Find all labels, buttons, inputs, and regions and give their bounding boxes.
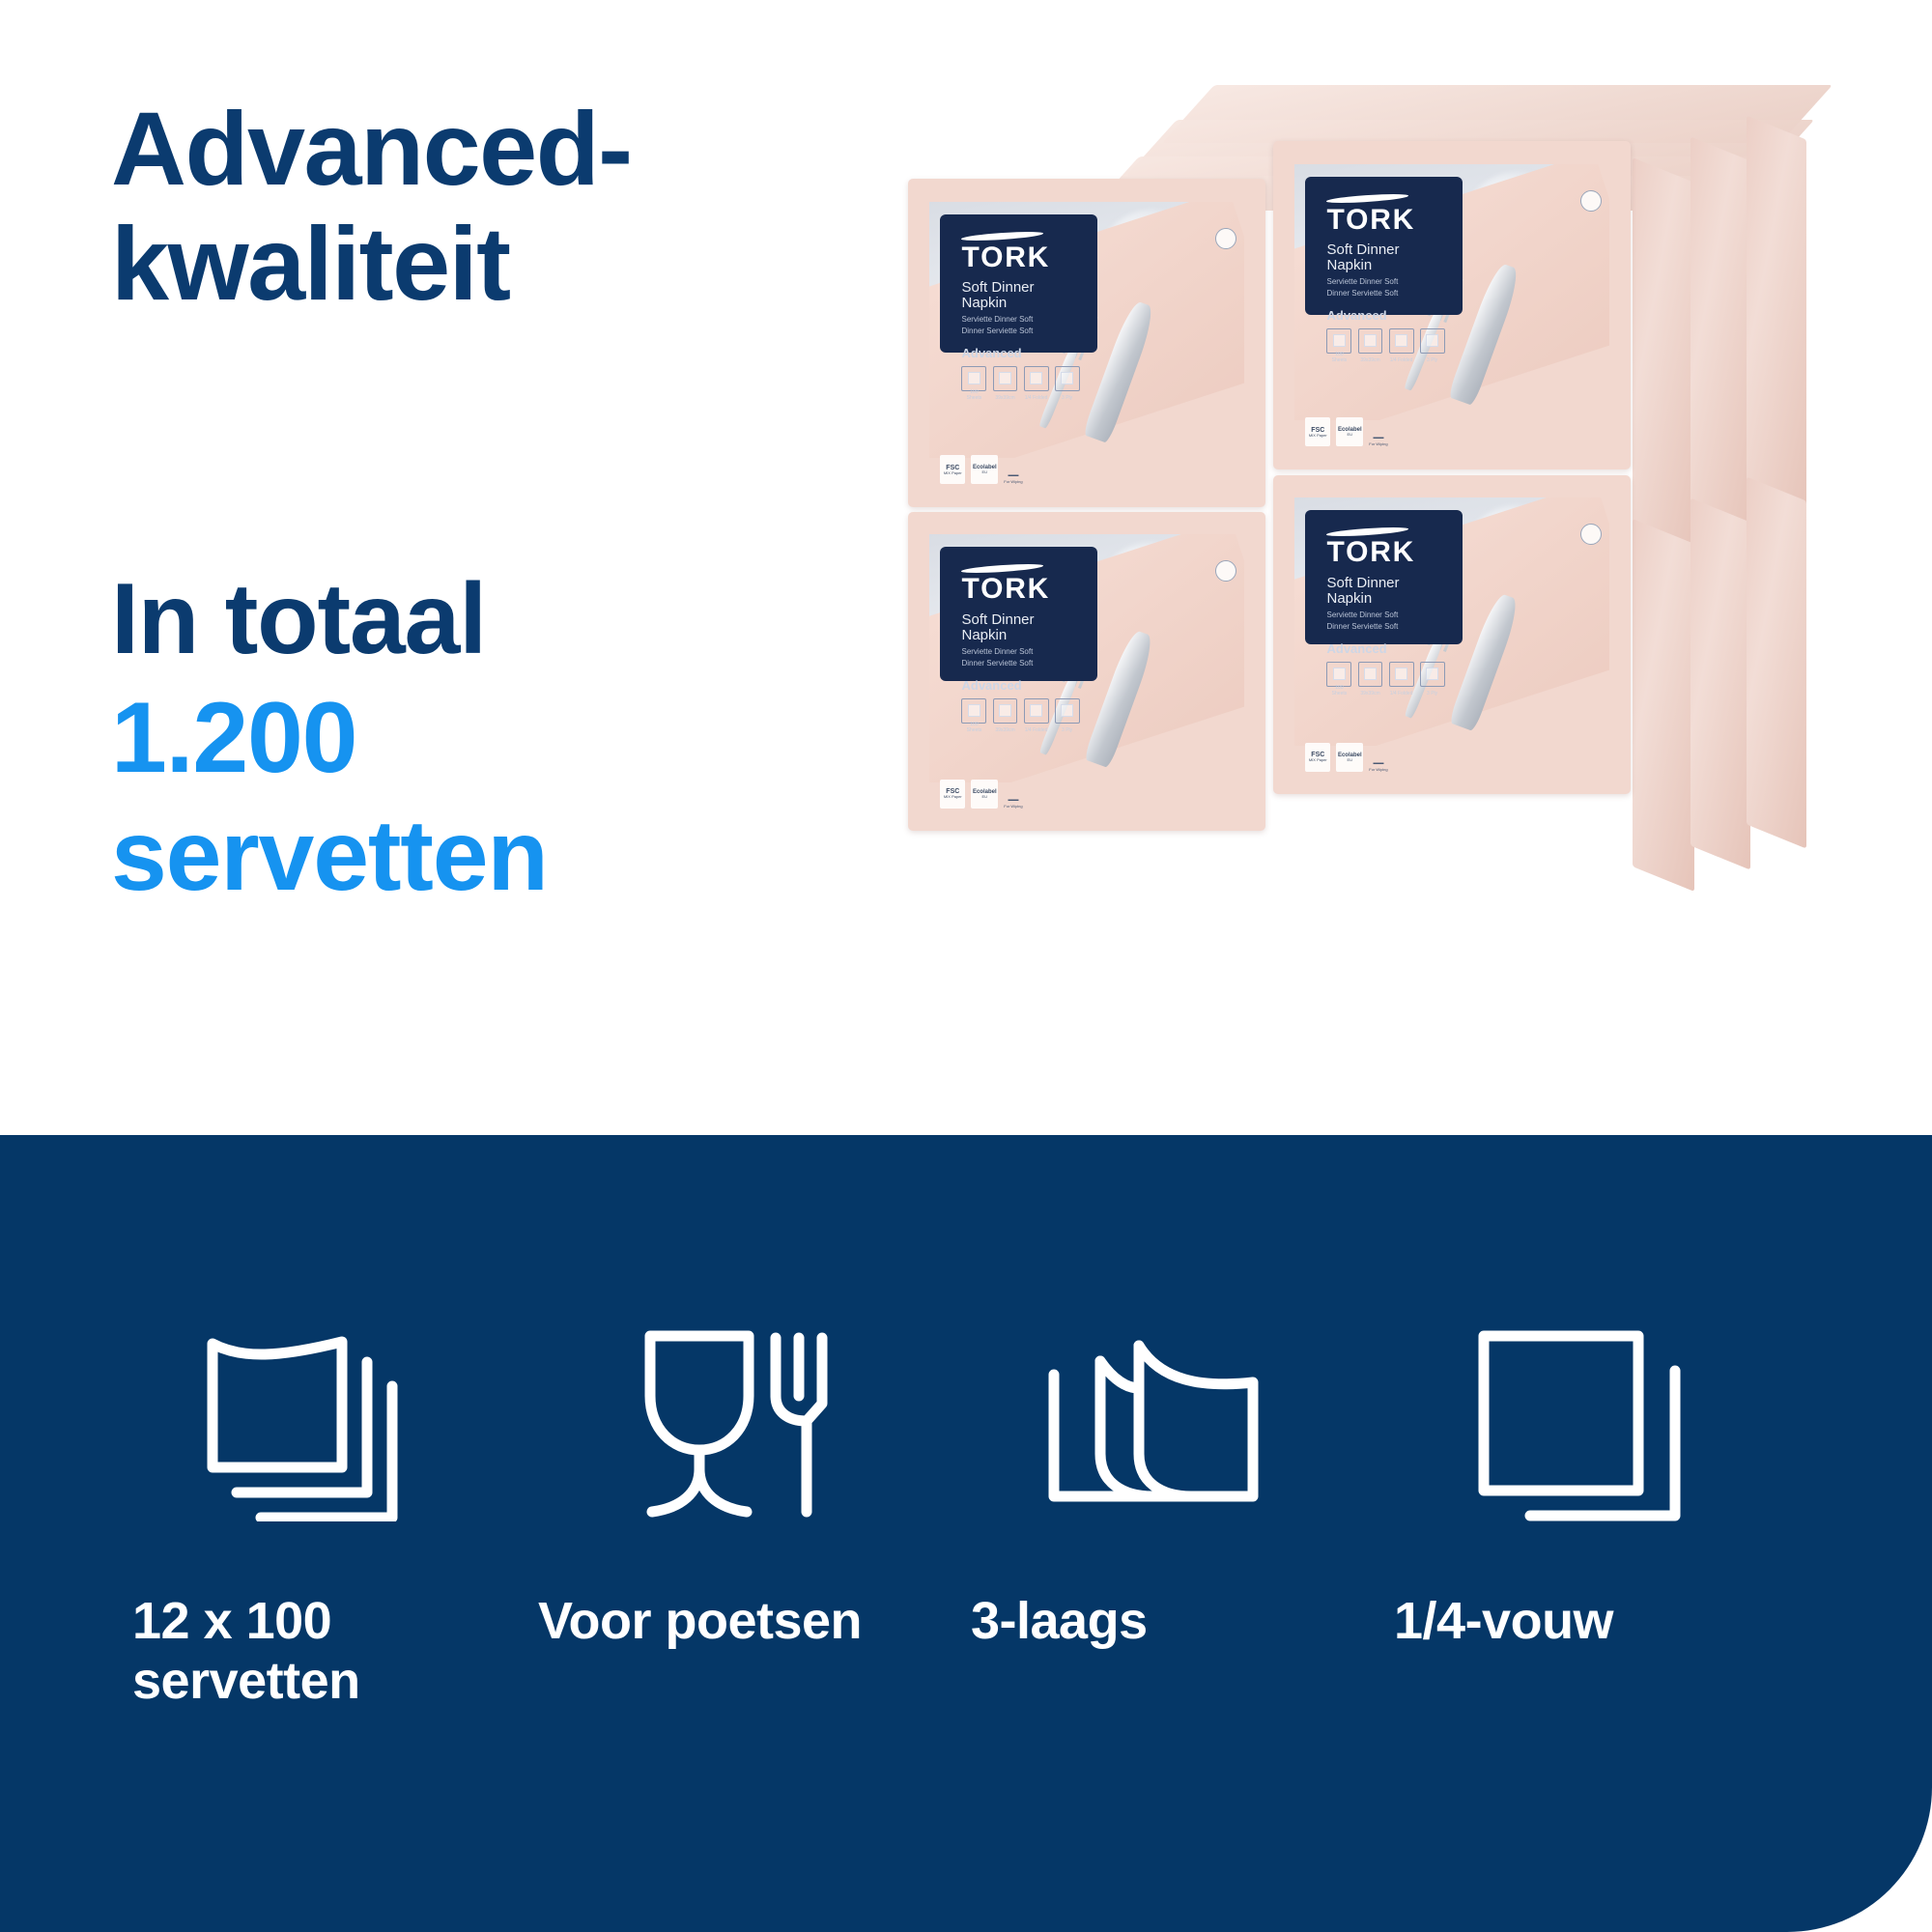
- subheadline-line-1: In totaal: [111, 560, 903, 679]
- size-icon: 39x39cm: [993, 698, 1018, 724]
- product-image: TORK Soft Dinner Napkin Serviette Dinner…: [898, 77, 1874, 1053]
- subheadline-count: 1.200: [111, 679, 903, 798]
- product-sub-1: Serviette Dinner Soft: [961, 646, 1079, 658]
- fsc-logo: FSC MIX Paper: [940, 455, 965, 484]
- sheets-icon: 100 Sheets: [1326, 662, 1351, 687]
- feature-list: 12 x 100servetten Voor poetsen: [92, 1304, 1840, 1711]
- eu-ecolabel-logo: Ecolabel EU: [1336, 417, 1363, 446]
- size-icon: 39x39cm: [1358, 328, 1383, 354]
- quality-tier: Advanced: [961, 346, 1079, 360]
- eu-ecolabel-logo: Ecolabel EU: [971, 455, 998, 484]
- eu-ecolabel-logo: Ecolabel EU: [971, 780, 998, 809]
- spec-icon-row: 100 Sheets 39x39cm 1/4 Folded 3 Ply: [961, 366, 1079, 391]
- eu-ecolabel-logo: Ecolabel EU: [1336, 743, 1363, 772]
- napkin-pack: TORK Soft Dinner Napkin Serviette Dinner…: [1273, 475, 1631, 794]
- feature-label: 1/4-vouw: [1367, 1592, 1792, 1652]
- feature-item: 1/4-vouw: [1367, 1304, 1792, 1711]
- product-infographic: Advanced- kwaliteit In totaal 1.200 serv…: [0, 0, 1932, 1932]
- feature-item: 12 x 100servetten: [92, 1304, 517, 1711]
- product-sub-2: Dinner Serviette Soft: [1326, 621, 1444, 633]
- feature-panel: 12 x 100servetten Voor poetsen: [0, 1135, 1932, 1932]
- product-title: Soft Dinner Napkin: [961, 280, 1079, 311]
- pack-label: TORK Soft Dinner Napkin Serviette Dinner…: [940, 547, 1097, 681]
- certification-row: FSC MIX Paper Ecolabel EU ⚊ For Wiping: [940, 455, 1022, 484]
- feature-label: 3-laags: [942, 1592, 1367, 1652]
- fsc-logo: FSC MIX Paper: [1305, 417, 1330, 446]
- stack-depth-right-3: [1747, 115, 1806, 516]
- quarter-fold-icon: [1367, 1304, 1792, 1546]
- spec-icon-row: 100 Sheets 39x39cm 1/4 Folded 3 Ply: [1326, 328, 1444, 354]
- tork-wave-icon: [961, 563, 1043, 574]
- certification-row: FSC MIX Paper Ecolabel EU ⚊ For Wiping: [1305, 417, 1387, 446]
- tork-wave-icon: [1326, 193, 1408, 204]
- spec-icon-row: 100 Sheets 39x39cm 1/4 Folded 3 Ply: [1326, 662, 1444, 687]
- stack-depth-right-5: [1690, 497, 1750, 869]
- brand-name: TORK: [1326, 538, 1444, 567]
- fold-icon: 1/4 Folded: [1024, 698, 1049, 724]
- product-sub-2: Dinner Serviette Soft: [961, 658, 1079, 669]
- for-wiping-icon: ⚊ For Wiping: [1369, 428, 1387, 446]
- ply-icon: 3 Ply: [1055, 698, 1080, 724]
- product-sub-1: Serviette Dinner Soft: [1326, 610, 1444, 621]
- pack-label: TORK Soft Dinner Napkin Serviette Dinner…: [940, 214, 1097, 353]
- feature-item: 3-laags: [942, 1304, 1367, 1711]
- fold-icon: 1/4 Folded: [1389, 328, 1414, 354]
- brand-name: TORK: [1326, 206, 1444, 235]
- fold-icon: 1/4 Folded: [1024, 366, 1049, 391]
- product-sub-2: Dinner Serviette Soft: [961, 326, 1079, 337]
- stack-depth-right-1: [1633, 157, 1694, 559]
- subheadline: In totaal 1.200 servetten: [111, 560, 903, 916]
- product-sub-2: Dinner Serviette Soft: [1326, 288, 1444, 299]
- product-title: Soft Dinner Napkin: [961, 612, 1079, 643]
- quality-tier: Advanced: [1326, 308, 1444, 323]
- product-sub-1: Serviette Dinner Soft: [1326, 276, 1444, 288]
- napkin-pack: TORK Soft Dinner Napkin Serviette Dinner…: [908, 179, 1265, 507]
- ply-icon: 3 Ply: [1055, 366, 1080, 391]
- brand-name: TORK: [961, 243, 1079, 272]
- fold-icon: 1/4 Folded: [1389, 662, 1414, 687]
- feature-label-line2: servetten: [132, 1652, 360, 1710]
- feature-item: Voor poetsen: [517, 1304, 942, 1711]
- sheets-icon: 100 Sheets: [961, 698, 986, 724]
- size-icon: 39x39cm: [1358, 662, 1383, 687]
- sheets-icon: 100 Sheets: [1326, 328, 1351, 354]
- napkin-pack: TORK Soft Dinner Napkin Serviette Dinner…: [908, 512, 1265, 831]
- pack-label: TORK Soft Dinner Napkin Serviette Dinner…: [1305, 177, 1463, 315]
- product-title: Soft Dinner Napkin: [1326, 576, 1444, 607]
- spec-icon-row: 100 Sheets 39x39cm 1/4 Folded 3 Ply: [961, 698, 1079, 724]
- feature-label: 12 x 100servetten: [92, 1592, 517, 1711]
- for-wiping-icon: ⚊ For Wiping: [1004, 790, 1022, 809]
- glass-fork-icon: [517, 1304, 942, 1546]
- three-ply-icon: [942, 1304, 1367, 1546]
- sheets-icon: 100 Sheets: [961, 366, 986, 391]
- napkin-stack-icon: [92, 1304, 517, 1546]
- fsc-logo: FSC MIX Paper: [940, 780, 965, 809]
- headline-line-1: Advanced-: [111, 92, 874, 207]
- ply-icon: 3 Ply: [1420, 662, 1445, 687]
- for-wiping-icon: ⚊ For Wiping: [1004, 466, 1022, 484]
- stack-depth-right-6: [1747, 476, 1806, 848]
- ply-icon: 3 Ply: [1420, 328, 1445, 354]
- certification-row: FSC MIX Paper Ecolabel EU ⚊ For Wiping: [940, 780, 1022, 809]
- quality-tier: Advanced: [1326, 641, 1444, 656]
- fsc-logo: FSC MIX Paper: [1305, 743, 1330, 772]
- pack-label: TORK Soft Dinner Napkin Serviette Dinner…: [1305, 510, 1463, 644]
- product-sub-1: Serviette Dinner Soft: [961, 314, 1079, 326]
- size-icon: 39x39cm: [993, 366, 1018, 391]
- for-wiping-icon: ⚊ For Wiping: [1369, 753, 1387, 772]
- headline-line-2: kwaliteit: [111, 207, 874, 322]
- stack-depth-right-4: [1633, 519, 1694, 892]
- top-section: Advanced- kwaliteit In totaal 1.200 serv…: [0, 0, 1932, 1135]
- product-title: Soft Dinner Napkin: [1326, 242, 1444, 273]
- feature-label-line1: 12 x 100: [132, 1592, 331, 1650]
- recycle-roundel-icon: [1580, 524, 1602, 545]
- tork-wave-icon: [961, 231, 1043, 241]
- stack-depth-right-2: [1690, 136, 1750, 537]
- recycle-roundel-icon: [1215, 560, 1236, 582]
- feature-label: Voor poetsen: [517, 1592, 942, 1652]
- subheadline-unit: servetten: [111, 797, 903, 916]
- napkin-pack: TORK Soft Dinner Napkin Serviette Dinner…: [1273, 141, 1631, 469]
- napkin-pack-stack: TORK Soft Dinner Napkin Serviette Dinner…: [898, 77, 1874, 1053]
- tork-wave-icon: [1326, 526, 1408, 537]
- quality-tier: Advanced: [961, 678, 1079, 693]
- certification-row: FSC MIX Paper Ecolabel EU ⚊ For Wiping: [1305, 743, 1387, 772]
- brand-name: TORK: [961, 575, 1079, 604]
- headline: Advanced- kwaliteit: [111, 92, 874, 322]
